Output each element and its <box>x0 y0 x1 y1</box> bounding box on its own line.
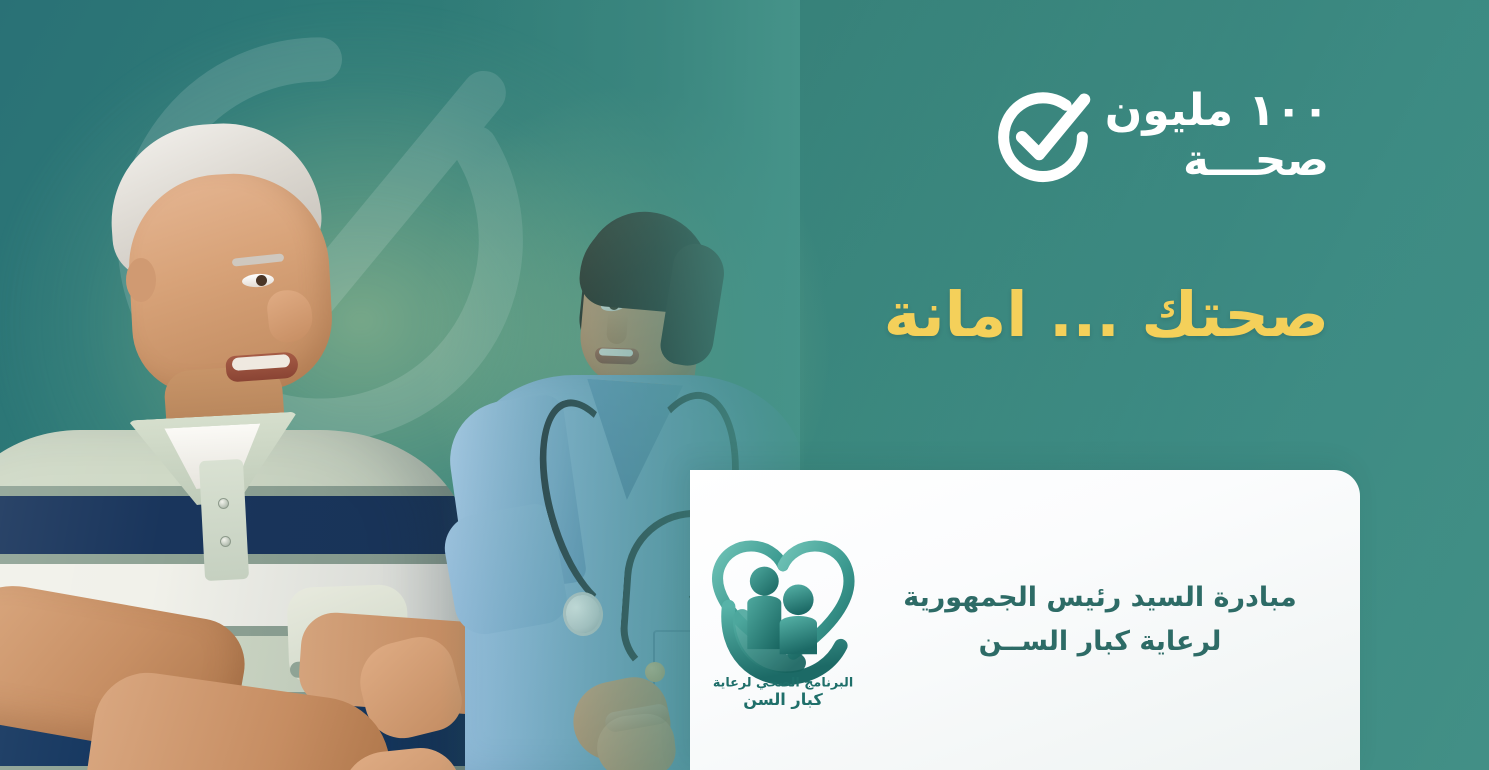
check-circle-icon <box>995 88 1091 184</box>
health-campaign-banner: ١٠٠ مليون صحـــة صحتك ... امانة <box>0 0 1489 770</box>
heart-hand-elderly-care-icon: البرنامج الصحي لرعاية كبار السن <box>698 525 868 715</box>
shirt-placket <box>199 459 249 581</box>
campaign-logo-100-million-health: ١٠٠ مليون صحـــة <box>995 88 1329 184</box>
headline-slogan: صحتك ... امانة <box>884 278 1329 351</box>
initiative-text: مبادرة السيد رئيس الجمهورية لرعاية كبار … <box>868 576 1318 663</box>
man-pupil <box>256 275 267 286</box>
hero-photo <box>0 0 800 770</box>
nurse-teeth <box>599 348 633 356</box>
nurse-nose <box>606 313 628 344</box>
man-ear <box>126 258 156 302</box>
logo-caption-line-2: كبار السن <box>743 690 823 709</box>
brand-wordmark: ١٠٠ مليون صحـــة <box>1105 89 1329 183</box>
logo-caption-line-1: البرنامج الصحي لرعاية <box>713 676 853 691</box>
initiative-card: البرنامج الصحي لرعاية كبار السن مبادرة ا… <box>690 470 1360 770</box>
initiative-text-line-2: لرعاية كبار الســن <box>882 620 1318 664</box>
brand-line-1: ١٠٠ مليون <box>1105 89 1329 133</box>
shirt-button <box>220 536 231 547</box>
initiative-text-line-1: مبادرة السيد رئيس الجمهورية <box>882 576 1318 620</box>
brand-line-2: صحـــة <box>1183 139 1329 183</box>
shirt-button <box>218 498 229 509</box>
stethoscope-bell <box>645 662 665 682</box>
